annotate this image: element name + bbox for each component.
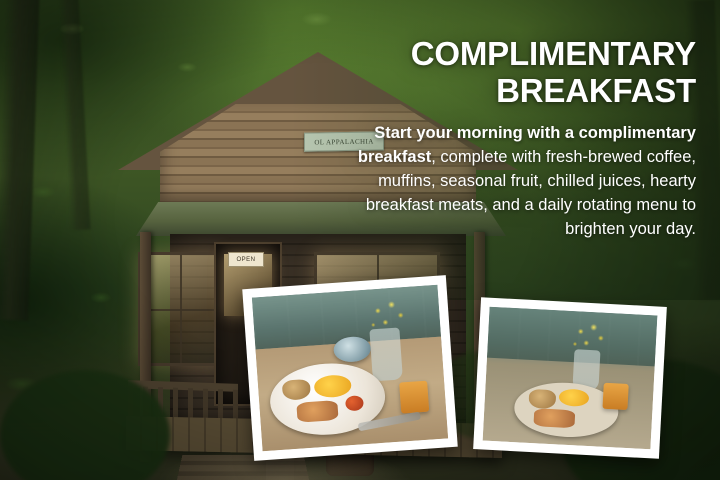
open-sign-label: OPEN — [236, 257, 255, 263]
breakfast-plate-photo — [252, 285, 448, 452]
breakfast-board-photo-card — [473, 297, 667, 459]
juice-jar — [602, 382, 629, 410]
breakfast-plate-photo-card — [242, 275, 458, 461]
promo-body: Start your morning with a complimentary … — [314, 121, 696, 241]
headline: COMPLIMENTARY BREAKFAST — [314, 36, 696, 110]
headline-line-1: COMPLIMENTARY — [411, 35, 696, 72]
breakfast-board-photo — [483, 307, 658, 450]
open-sign: OPEN — [228, 252, 264, 267]
pastry — [534, 408, 575, 427]
window-mullion-horizontal — [141, 309, 219, 311]
photo-scene — [483, 307, 658, 450]
photo-scene — [252, 285, 448, 452]
toast — [296, 400, 338, 423]
flower-vase — [370, 327, 403, 381]
promo-copy: COMPLIMENTARY BREAKFAST Start your morni… — [314, 36, 696, 241]
juice-jar — [400, 381, 430, 414]
headline-line-2: BREAKFAST — [314, 73, 696, 110]
promo-image: OL APPALACHIA OPEN — [0, 0, 720, 480]
